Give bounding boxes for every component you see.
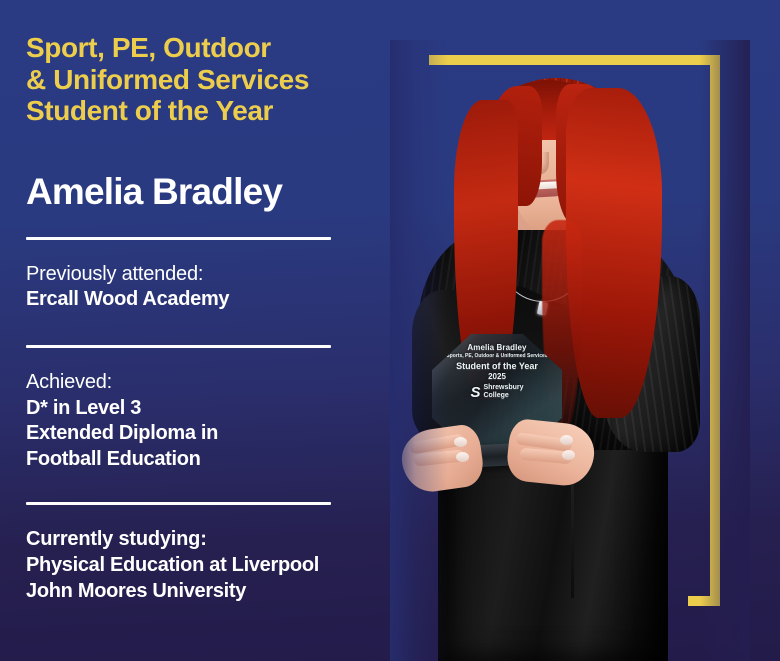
achievement-block: Achieved: D* in Level 3 Extended Diploma… — [26, 370, 426, 472]
trophy-logo: S Shrewsbury College — [432, 384, 562, 399]
institution-line-2: College — [483, 392, 508, 399]
current-study-value-line-2: John Moores University — [26, 579, 426, 605]
current-study-block: Currently studying: Physical Education a… — [26, 527, 426, 604]
previous-school-block: Previously attended: Ercall Wood Academy — [26, 262, 426, 313]
award-poster: Amelia Bradley Sports, PE, Outdoor & Uni… — [0, 0, 780, 661]
fingernail-3 — [560, 435, 573, 445]
current-study-label: Currently studying: — [26, 527, 426, 553]
student-name: Amelia Bradley — [26, 173, 430, 210]
text-column: Sport, PE, Outdoor & Uniformed Services … — [0, 0, 430, 661]
trophy-category: Sports, PE, Outdoor & Uniformed Services — [432, 354, 562, 359]
trophy-year: 2025 — [432, 373, 562, 382]
divider-1 — [26, 237, 331, 240]
divider-3 — [26, 502, 331, 505]
shrewsbury-s-logo-icon: S — [470, 385, 480, 400]
previous-school-label: Previously attended: — [26, 262, 426, 288]
student-portrait-photo: Amelia Bradley Sports, PE, Outdoor & Uni… — [390, 40, 750, 661]
award-headline: Sport, PE, Outdoor & Uniformed Services … — [26, 32, 416, 127]
achievement-label: Achieved: — [26, 370, 426, 396]
portrait-figure: Amelia Bradley Sports, PE, Outdoor & Uni… — [390, 40, 750, 661]
headline-line-3: Student of the Year — [26, 95, 416, 127]
achievement-value-line-2: Extended Diploma in — [26, 421, 426, 447]
fingernail-2 — [456, 452, 469, 462]
trophy-engraving: Amelia Bradley Sports, PE, Outdoor & Uni… — [432, 344, 562, 400]
achievement-value-line-3: Football Education — [26, 447, 426, 473]
headline-line-2: & Uniformed Services — [26, 64, 416, 96]
divider-2 — [26, 345, 331, 348]
headline-line-1: Sport, PE, Outdoor — [26, 32, 416, 64]
trophy-institution: Shrewsbury College — [483, 384, 523, 399]
previous-school-value: Ercall Wood Academy — [26, 287, 426, 313]
fingernail-4 — [562, 450, 575, 460]
trophy-award: Student of the Year — [432, 362, 562, 372]
institution-line-1: Shrewsbury — [483, 384, 523, 391]
current-study-value-line-1: Physical Education at Liverpool — [26, 553, 426, 579]
achievement-value-line-1: D* in Level 3 — [26, 396, 426, 422]
fingernail-1 — [454, 437, 467, 447]
